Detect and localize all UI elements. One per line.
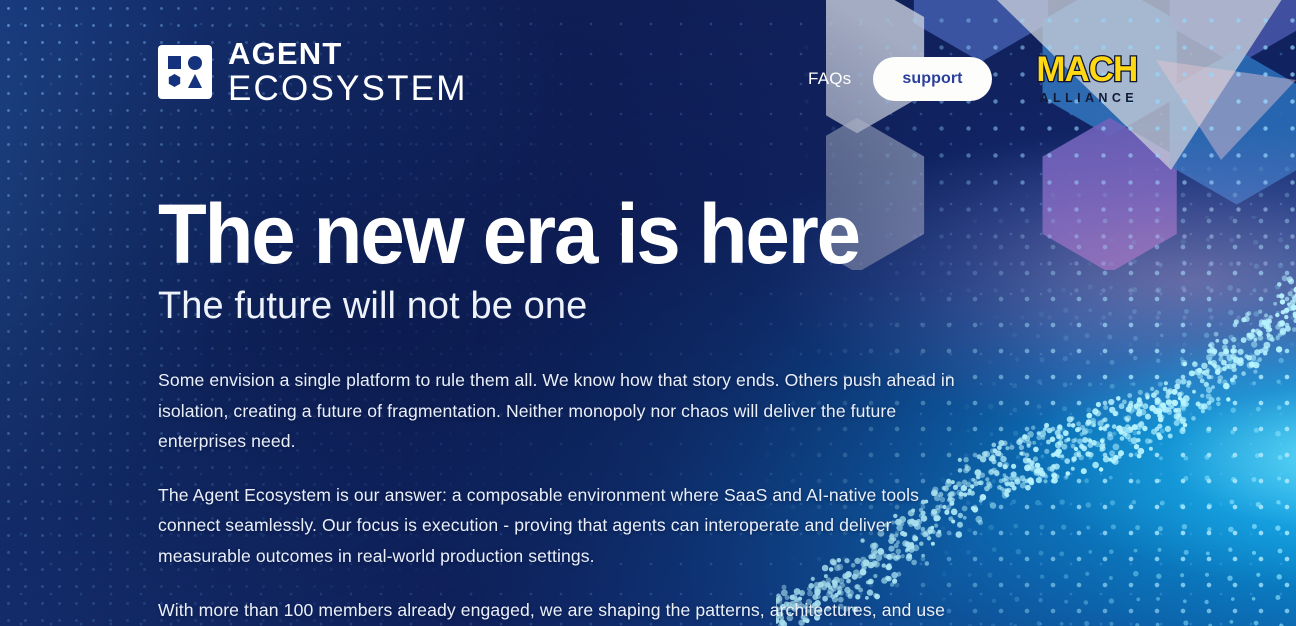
- brand-wordmark: AGENT ECOSYSTEM: [228, 38, 468, 106]
- brand-logo[interactable]: AGENT ECOSYSTEM: [158, 38, 468, 106]
- hero-paragraph: With more than 100 members already engag…: [158, 595, 978, 626]
- hero-paragraph: The Agent Ecosystem is our answer: a com…: [158, 480, 978, 572]
- hero-headline: The new era is here: [158, 196, 956, 273]
- agent-ecosystem-logo-mark-icon: [158, 45, 212, 99]
- mach-wordmark: MACH: [1036, 52, 1137, 87]
- hero-page: AGENT ECOSYSTEM FAQs support MACH ALLIAN…: [0, 0, 1296, 626]
- hero-paragraph: Some envision a single platform to rule …: [158, 365, 978, 457]
- hero-subheadline: The future will not be one: [158, 285, 998, 329]
- header-nav: FAQs support MACH ALLIANCE: [808, 52, 1138, 105]
- brand-word-agent: AGENT: [228, 38, 468, 69]
- hero-body-copy: Some envision a single platform to rule …: [158, 365, 978, 626]
- support-button[interactable]: support: [873, 57, 991, 101]
- nav-link-faqs[interactable]: FAQs: [808, 69, 851, 89]
- brand-word-ecosystem: ECOSYSTEM: [228, 71, 468, 106]
- mach-alliance-label: ALLIANCE: [1036, 91, 1138, 105]
- mach-alliance-logo[interactable]: MACH ALLIANCE: [1036, 52, 1138, 105]
- hero-content: The new era is here The future will not …: [158, 196, 998, 626]
- site-header: AGENT ECOSYSTEM FAQs support MACH ALLIAN…: [0, 0, 1296, 140]
